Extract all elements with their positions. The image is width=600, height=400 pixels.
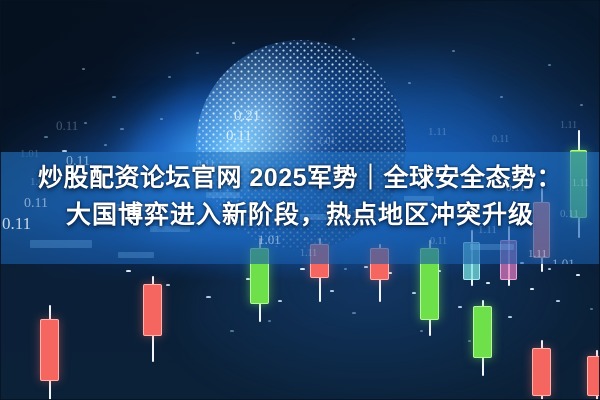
candle-2 <box>143 276 162 362</box>
headline-line-2: 大国博弈进入新阶段，热点地区冲突升级 <box>0 197 600 234</box>
particle-speck <box>104 144 107 146</box>
band-number: 1.11 <box>300 248 317 259</box>
particle-speck <box>458 306 462 308</box>
particle-speck <box>230 330 234 332</box>
particle-speck <box>160 118 163 120</box>
particle-speck <box>278 300 282 302</box>
particle-speck <box>530 288 534 290</box>
candle-1 <box>40 305 59 400</box>
candle-body <box>587 356 600 396</box>
particle-speck <box>112 96 116 98</box>
candle-body <box>473 306 492 358</box>
particle-speck <box>330 290 334 292</box>
particle-speck <box>452 50 455 52</box>
band-bar <box>118 252 154 258</box>
particle-speck <box>344 268 347 270</box>
particle-speck <box>352 312 356 314</box>
particle-speck <box>412 292 416 294</box>
particle-speck <box>576 274 580 276</box>
candle-7 <box>473 300 492 376</box>
candle-9 <box>587 350 600 400</box>
particle-speck <box>364 266 368 268</box>
particle-speck <box>556 300 560 302</box>
candle-body <box>40 319 59 381</box>
particle-speck <box>486 282 490 284</box>
particle-speck <box>580 104 583 106</box>
banner-image: 0.111.010.210.111.111.010.111.11 0.110.1… <box>0 0 600 400</box>
particle-speck <box>318 68 321 70</box>
particle-speck <box>196 52 199 54</box>
particle-speck <box>44 136 48 138</box>
band-number: 0.11 <box>430 236 447 247</box>
particle-speck <box>300 268 305 270</box>
particle-speck <box>408 82 411 84</box>
particle-speck <box>548 64 551 66</box>
particle-speck <box>126 270 131 272</box>
particle-speck <box>508 316 512 318</box>
particle-speck <box>468 340 471 342</box>
candle-body <box>532 348 551 396</box>
band-bar <box>470 244 514 250</box>
particle-speck <box>232 42 235 44</box>
particle-speck <box>206 296 211 298</box>
particle-speck <box>500 96 503 98</box>
particle-speck <box>84 122 87 124</box>
particle-speck <box>120 128 124 130</box>
band-number: 1.01 <box>552 256 575 264</box>
particle-speck <box>352 38 355 40</box>
particle-speck <box>590 308 593 310</box>
band-bar <box>30 240 92 248</box>
band-number: 1.01 <box>258 232 281 248</box>
headline-line-1: 炒股配资论坛官网 2025军势｜全球安全态势： <box>0 160 600 197</box>
particle-speck <box>82 68 85 70</box>
candle-8 <box>532 340 551 400</box>
candle-body <box>143 284 162 336</box>
particle-speck <box>166 284 170 286</box>
headline-block: 炒股配资论坛官网 2025军势｜全球安全态势： 大国博弈进入新阶段，热点地区冲突… <box>0 160 600 234</box>
band-number: 1.11 <box>528 248 547 260</box>
particle-speck <box>168 76 171 78</box>
